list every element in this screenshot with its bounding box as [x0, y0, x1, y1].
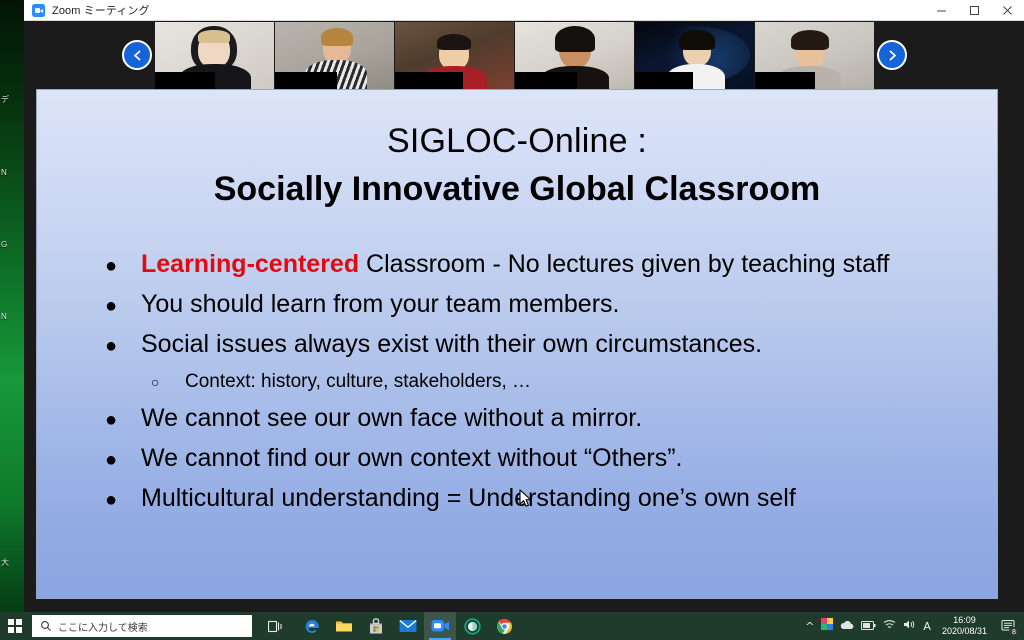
chrome-icon[interactable]: [488, 612, 520, 640]
notification-badge: 8: [1009, 627, 1019, 637]
desktop-icon-label: 大: [1, 558, 23, 567]
system-tray: ^: [805, 612, 1024, 640]
filmstrip-next-button[interactable]: [877, 40, 907, 70]
participant-name-bar: [395, 72, 463, 89]
bullet-marker-icon: ●: [105, 441, 141, 479]
clock-date: 2020/08/31: [942, 626, 987, 637]
slide-bullet-text: Learning-centered Classroom - No lecture…: [141, 245, 889, 283]
bullet-marker-icon: ●: [105, 327, 141, 365]
desktop-icon-label: デ: [1, 95, 23, 104]
slide-subtitle: Socially Innovative Global Classroom: [37, 170, 997, 209]
participant-tile[interactable]: [155, 22, 274, 89]
participant-tile[interactable]: [395, 22, 514, 89]
participant-name-bar: [755, 72, 815, 89]
slide-bullet-item: ● Multicultural understanding = Understa…: [105, 479, 997, 519]
slide-bullet-highlight: Learning-centered: [141, 250, 359, 278]
participant-tile[interactable]: [635, 22, 754, 89]
search-placeholder: ここに入力して検索: [58, 619, 148, 634]
slide-bullet-text: We cannot find our own context without “…: [141, 439, 682, 477]
microsoft-store-icon[interactable]: [360, 612, 392, 640]
taskbar-clock[interactable]: 16:09 2020/08/31: [938, 615, 991, 637]
participant-filmstrip: [24, 21, 1024, 89]
slide-bullet-item: ● Learning-centered Classroom - No lectu…: [105, 245, 997, 285]
bullet-marker-icon: ●: [105, 481, 141, 519]
chevron-left-icon: [131, 49, 144, 62]
colorful-app-icon[interactable]: [821, 617, 833, 635]
desktop-background: デ N G N 大: [0, 0, 24, 612]
screen-root: デ N G N 大 Zoom ミーティング: [0, 0, 1024, 640]
edge-icon[interactable]: [296, 612, 328, 640]
volume-icon[interactable]: [903, 617, 916, 635]
search-input[interactable]: ここに入力して検索: [32, 615, 252, 637]
windows-taskbar: ここに入力して検索: [0, 612, 1024, 640]
windows-start-icon[interactable]: [0, 612, 30, 640]
zoom-logo-icon: [32, 4, 45, 17]
slide-bullet-item: ● We cannot find our own context without…: [105, 439, 997, 479]
window-title: Zoom ミーティング: [52, 2, 150, 18]
participant-tile[interactable]: [515, 22, 634, 89]
participant-name-bar: [275, 72, 337, 89]
title-bar[interactable]: Zoom ミーティング: [24, 0, 1024, 21]
battery-icon[interactable]: [861, 617, 876, 635]
notification-icon[interactable]: 8: [998, 616, 1018, 636]
zoom-meeting-window: Zoom ミーティング: [24, 0, 1024, 612]
task-view-icon[interactable]: [260, 612, 290, 640]
participant-tile[interactable]: [755, 22, 874, 89]
slide-bullet-rest: Classroom - No lectures given by teachin…: [359, 250, 889, 278]
maximize-button[interactable]: [958, 0, 991, 21]
teal-app-icon[interactable]: [456, 612, 488, 640]
slide-bullet-text: Social issues always exist with their ow…: [141, 325, 762, 363]
bullet-marker-icon: ●: [105, 287, 141, 325]
participant-name-bar: [155, 72, 215, 89]
desktop-icon-label: N: [1, 312, 23, 321]
slide-sub-bullet-item: ○ Context: history, culture, stakeholder…: [105, 365, 997, 399]
slide-bullet-item: ● You should learn from your team member…: [105, 285, 997, 325]
clock-time: 16:09: [942, 615, 987, 626]
participant-tile[interactable]: [275, 22, 394, 89]
taskbar-app-list: [296, 612, 520, 640]
mouse-pointer-icon: [519, 489, 533, 514]
file-explorer-icon[interactable]: [328, 612, 360, 640]
participant-tiles: [155, 22, 874, 89]
bullet-marker-icon: ●: [105, 401, 141, 439]
cloud-icon[interactable]: [840, 617, 854, 635]
participant-name-bar: [515, 72, 577, 89]
desktop-icon-label: G: [1, 240, 23, 249]
wifi-icon[interactable]: [883, 617, 896, 635]
slide-bullet-list: ● Learning-centered Classroom - No lectu…: [37, 245, 997, 519]
sub-bullet-marker-icon: ○: [151, 365, 185, 399]
slide-bullet-text: Multicultural understanding = Understand…: [141, 479, 796, 517]
chevron-up-icon[interactable]: ^: [805, 621, 814, 632]
desktop-icon-label: N: [1, 168, 23, 177]
chevron-right-icon: [886, 49, 899, 62]
bullet-marker-icon: ●: [105, 247, 141, 285]
slide-bullet-text: We cannot see our own face without a mir…: [141, 399, 642, 437]
mail-icon[interactable]: [392, 612, 424, 640]
close-button[interactable]: [991, 0, 1024, 21]
zoom-icon[interactable]: [424, 612, 456, 640]
shared-slide: SIGLOC-Online : Socially Innovative Glob…: [36, 89, 998, 599]
filmstrip-prev-button[interactable]: [122, 40, 152, 70]
search-icon: [40, 620, 52, 632]
slide-bullet-item: ● We cannot see our own face without a m…: [105, 399, 997, 439]
participant-name-bar: [635, 72, 693, 89]
title-bar-left: Zoom ミーティング: [24, 2, 925, 18]
window-controls: [925, 0, 1024, 21]
slide-bullet-item: ● Social issues always exist with their …: [105, 325, 997, 365]
slide-bullet-text: Context: history, culture, stakeholders,…: [185, 365, 531, 399]
slide-bullet-text: You should learn from your team members.: [141, 285, 619, 323]
ime-icon[interactable]: A: [923, 621, 931, 632]
slide-title: SIGLOC-Online :: [37, 122, 997, 161]
minimize-button[interactable]: [925, 0, 958, 21]
